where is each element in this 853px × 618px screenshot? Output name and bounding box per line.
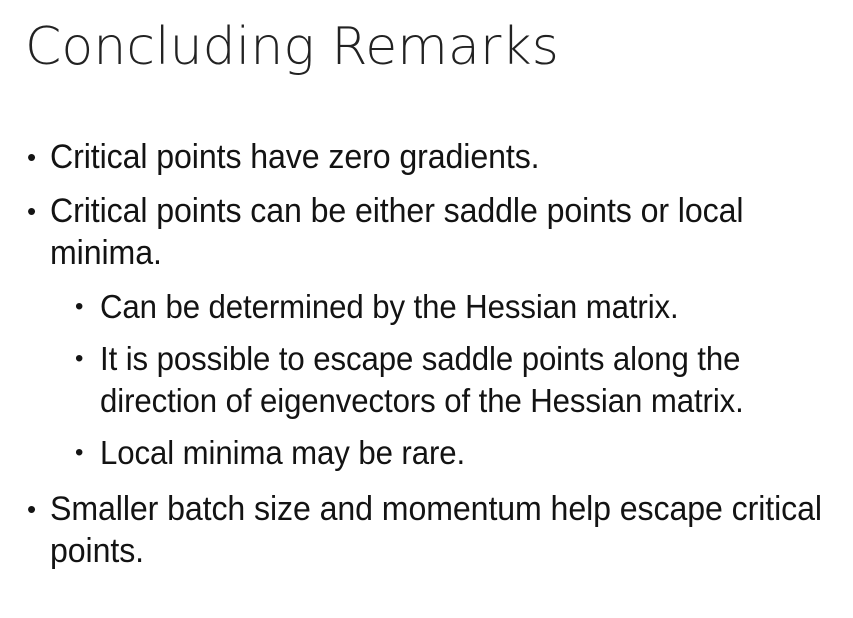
bullet-point-icon: • [75, 338, 83, 380]
bullet-text: Critical points have zero gradients. [50, 136, 849, 178]
bullet-item-level1: • Smaller batch size and momentum help e… [0, 488, 853, 572]
bullet-point-icon: • [75, 286, 83, 328]
bullet-text: Critical points can be either saddle poi… [50, 190, 849, 274]
bullet-item-level1: • Critical points can be either saddle p… [0, 190, 853, 274]
bullet-item-level2: • It is possible to escape saddle points… [0, 338, 853, 422]
bullet-point-icon: • [75, 432, 83, 474]
bullet-item-level2: • Can be determined by the Hessian matri… [0, 286, 853, 328]
bullet-item-level1: • Critical points have zero gradients. [0, 136, 853, 178]
bullet-text: It is possible to escape saddle points a… [100, 338, 851, 422]
slide-title: Concluding Remarks [25, 16, 825, 78]
bullet-text: Can be determined by the Hessian matrix. [100, 286, 851, 328]
bullet-text: Local minima may be rare. [100, 432, 851, 474]
bullet-point-icon: • [27, 136, 36, 178]
bullet-text: Smaller batch size and momentum help esc… [50, 488, 849, 572]
slide-body-content: • Critical points have zero gradients. •… [0, 136, 853, 584]
presentation-slide: Concluding Remarks • Critical points hav… [0, 0, 853, 618]
bullet-item-level2: • Local minima may be rare. [0, 432, 853, 474]
bullet-point-icon: • [27, 190, 36, 232]
bullet-point-icon: • [27, 488, 36, 530]
